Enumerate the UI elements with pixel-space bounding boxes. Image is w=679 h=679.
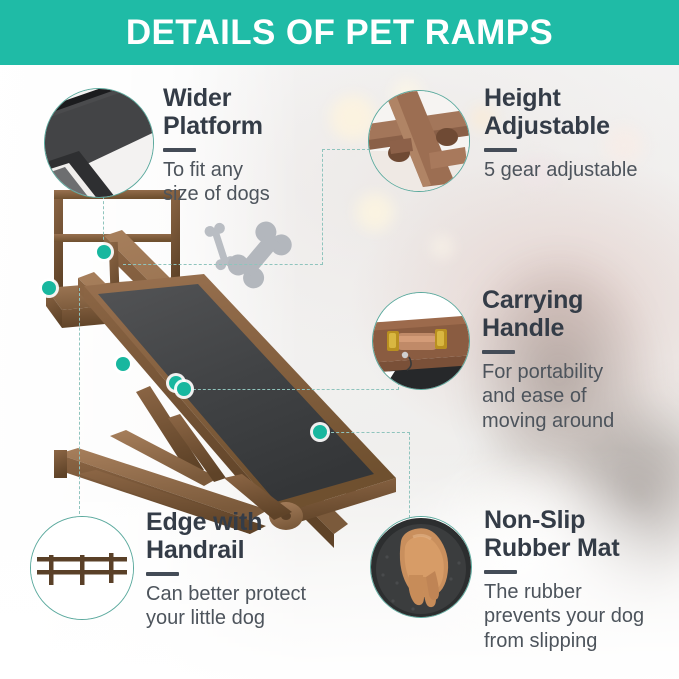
marker-wider-platform[interactable] <box>97 245 111 259</box>
connector-height-adjustable-h1 <box>123 264 323 265</box>
height-adjustable-title-line2: Adjustable <box>484 112 610 140</box>
edge-handrail-rule <box>146 572 179 576</box>
carrying-handle-desc-line2: and ease of <box>482 385 587 407</box>
marker-carrying-handle[interactable] <box>177 382 191 396</box>
edge-handrail-title-line2: Handrail <box>146 536 244 564</box>
page-title: DETAILS OF PET RAMPS <box>126 15 553 50</box>
connector-carrying-handle-h <box>183 389 399 390</box>
wider-platform-title: Wider Platform <box>163 84 338 140</box>
edge-handrail-title-line1: Edge with <box>146 508 262 536</box>
carrying-handle-desc-line3: moving around <box>482 410 614 432</box>
connector-edge-handrail <box>79 288 80 514</box>
connector-wider-platform <box>103 196 104 250</box>
height-adjustable-title: Height Adjustable <box>484 84 679 140</box>
adjustment-notch-closeup-photo <box>369 91 469 191</box>
header-banner: DETAILS OF PET RAMPS <box>0 0 679 65</box>
handrail-line-drawing <box>31 517 133 619</box>
infographic-canvas: DETAILS OF PET RAMPS <box>0 0 679 679</box>
wider-platform-rule <box>163 148 196 152</box>
wider-platform-desc-line2: size of dogs <box>163 183 270 205</box>
height-adjustable-desc: 5 gear adjustable <box>484 158 679 182</box>
wider-platform-text: Wider Platform To fit any size of dogs <box>163 84 338 207</box>
edge-handrail-title: Edge with Handrail <box>146 508 356 564</box>
connector-non-slip-mat-h <box>326 432 410 433</box>
carrying-handle-rule <box>482 350 515 354</box>
dog-paw-on-rubber-mat-photo <box>371 517 471 617</box>
carrying-handle-text: Carrying Handle For portability and ease… <box>482 286 678 433</box>
height-adjustable-rule <box>484 148 517 152</box>
carry-handle-closeup-photo <box>373 293 469 389</box>
carrying-handle-desc-line1: For portability <box>482 361 603 383</box>
bone-icon <box>223 218 296 293</box>
wider-platform-desc: To fit any size of dogs <box>163 158 338 207</box>
non-slip-mat-inset[interactable] <box>370 516 472 618</box>
carrying-handle-title-line1: Carrying <box>482 286 583 314</box>
bokeh-light <box>430 235 454 259</box>
carrying-handle-desc: For portability and ease of moving aroun… <box>482 360 678 433</box>
height-adjustable-title-line1: Height <box>484 84 561 112</box>
edge-handrail-desc-line2: your little dog <box>146 607 265 629</box>
wider-platform-title-line1: Wider <box>163 84 231 112</box>
non-slip-mat-text: Non-Slip Rubber Mat The rubber prevents … <box>484 506 679 653</box>
marker-height-notch[interactable] <box>116 357 130 371</box>
height-adjustable-inset[interactable] <box>368 90 470 192</box>
non-slip-mat-title-line1: Non-Slip <box>484 506 585 534</box>
bone-decorations <box>200 218 315 303</box>
non-slip-mat-desc-line1: The rubber <box>484 581 582 603</box>
edge-handrail-desc-line1: Can better protect <box>146 583 306 605</box>
marker-non-slip-mat[interactable] <box>313 425 327 439</box>
wider-platform-desc-line1: To fit any <box>163 159 243 181</box>
non-slip-mat-desc-line2: prevents your dog <box>484 605 644 627</box>
edge-handrail-desc: Can better protect your little dog <box>146 582 356 631</box>
carrying-handle-title: Carrying Handle <box>482 286 678 342</box>
marker-edge-handrail[interactable] <box>42 281 56 295</box>
edge-handrail-text: Edge with Handrail Can better protect yo… <box>146 508 356 631</box>
non-slip-mat-rule <box>484 570 517 574</box>
carrying-handle-inset[interactable] <box>372 292 470 390</box>
wider-platform-inset[interactable] <box>44 88 154 198</box>
non-slip-mat-title: Non-Slip Rubber Mat <box>484 506 679 562</box>
non-slip-mat-title-line2: Rubber Mat <box>484 534 620 562</box>
edge-handrail-inset[interactable] <box>30 516 134 620</box>
non-slip-mat-desc-line3: from slipping <box>484 630 597 652</box>
non-slip-mat-desc: The rubber prevents your dog from slippi… <box>484 580 679 653</box>
connector-non-slip-mat-v <box>409 432 410 518</box>
height-adjustable-desc-line1: 5 gear adjustable <box>484 159 637 181</box>
wider-platform-title-line2: Platform <box>163 112 263 140</box>
carrying-handle-title-line2: Handle <box>482 314 564 342</box>
height-adjustable-text: Height Adjustable 5 gear adjustable <box>484 84 679 182</box>
platform-closeup-photo <box>45 89 153 197</box>
